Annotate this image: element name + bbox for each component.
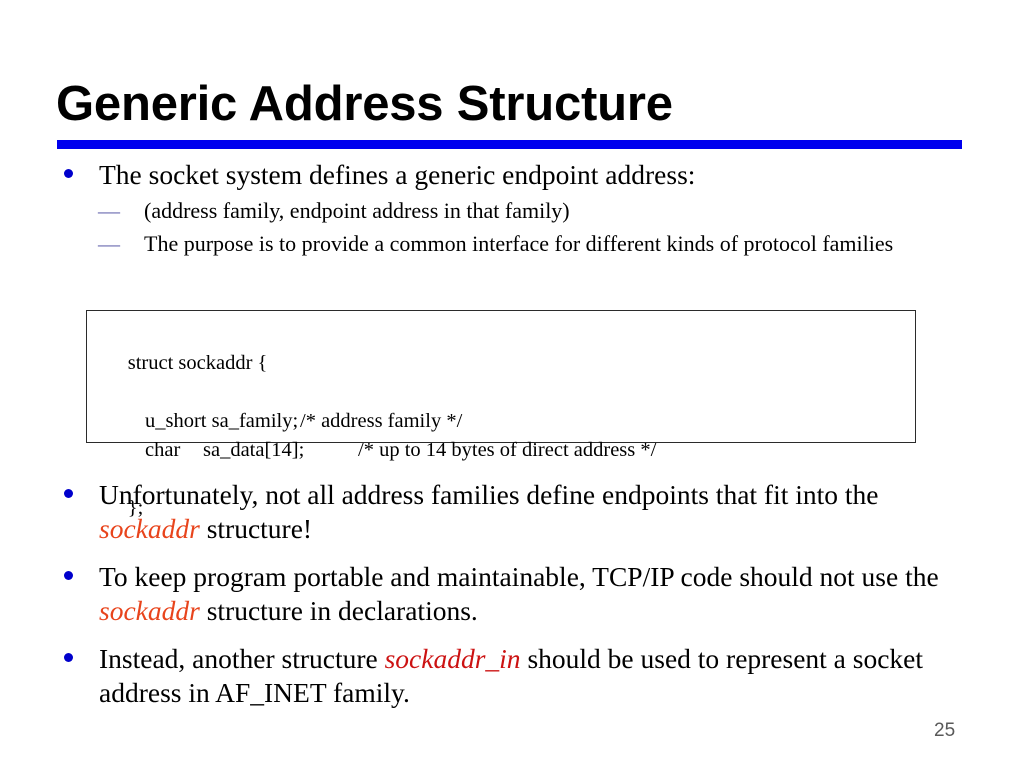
code-line-struct-open: struct sockaddr { bbox=[97, 320, 915, 407]
bullet-portable-text-a: To keep program portable and maintainabl… bbox=[99, 561, 939, 592]
bullet-dot-icon bbox=[64, 642, 84, 675]
slide-body: The socket system defines a generic endp… bbox=[0, 158, 1024, 257]
em-dash-icon: — bbox=[98, 230, 134, 257]
slide: Generic Address Structure The socket sys… bbox=[0, 0, 1024, 768]
code-block-sockaddr: struct sockaddr { u_short sa_family;/* a… bbox=[86, 310, 916, 443]
bullet-instead: Instead, another structure sockaddr_in s… bbox=[0, 642, 1024, 710]
title-underline-rule bbox=[57, 140, 962, 149]
bullet-instead-text-a: Instead, another structure bbox=[99, 643, 385, 674]
bullet-unfortunately-text-a: Unfortunately, not all address families … bbox=[99, 479, 878, 510]
subbullet-purpose-text: The purpose is to provide a common inter… bbox=[144, 231, 893, 256]
page-number: 25 bbox=[934, 719, 994, 743]
slide-body-lower: Unfortunately, not all address families … bbox=[0, 478, 1024, 710]
code-sa-family-comment: /* address family */ bbox=[300, 410, 462, 432]
emphasis-sockaddr-in: sockaddr_in bbox=[385, 643, 521, 674]
code-struct-decl: struct sockaddr { bbox=[128, 352, 268, 374]
bullet-intro: The socket system defines a generic endp… bbox=[0, 158, 1024, 191]
bullet-intro-text: The socket system defines a generic endp… bbox=[99, 159, 695, 190]
emphasis-sockaddr: sockaddr bbox=[99, 513, 200, 544]
page-title: Generic Address Structure bbox=[56, 76, 976, 132]
subbullet-purpose: — The purpose is to provide a common int… bbox=[0, 230, 1024, 257]
bullet-portable: To keep program portable and maintainabl… bbox=[0, 560, 1024, 628]
subbullet-address-family: — (address family, endpoint address in t… bbox=[0, 197, 1024, 224]
code-sa-data-comment: /* up to 14 bytes of direct address */ bbox=[358, 439, 656, 461]
bullet-unfortunately: Unfortunately, not all address families … bbox=[0, 478, 1024, 546]
bullet-dot-icon bbox=[64, 560, 84, 593]
bullet-dot-icon bbox=[64, 158, 84, 191]
code-sa-data-type: char bbox=[145, 436, 203, 465]
bullet-portable-text-b: structure in declarations. bbox=[200, 595, 478, 626]
bullet-unfortunately-text-b: structure! bbox=[200, 513, 312, 544]
subbullet-address-family-text: (address family, endpoint address in tha… bbox=[144, 198, 570, 223]
em-dash-icon: — bbox=[98, 197, 134, 224]
bullet-dot-icon bbox=[64, 478, 84, 511]
code-sa-data-decl: sa_data[14]; bbox=[203, 436, 358, 465]
code-sa-family-decl: u_short sa_family; bbox=[145, 407, 300, 436]
emphasis-sockaddr: sockaddr bbox=[99, 595, 200, 626]
code-line-sa-data: charsa_data[14];/* up to 14 bytes of dir… bbox=[97, 436, 915, 465]
code-line-sa-family: u_short sa_family;/* address family */ bbox=[97, 407, 915, 436]
